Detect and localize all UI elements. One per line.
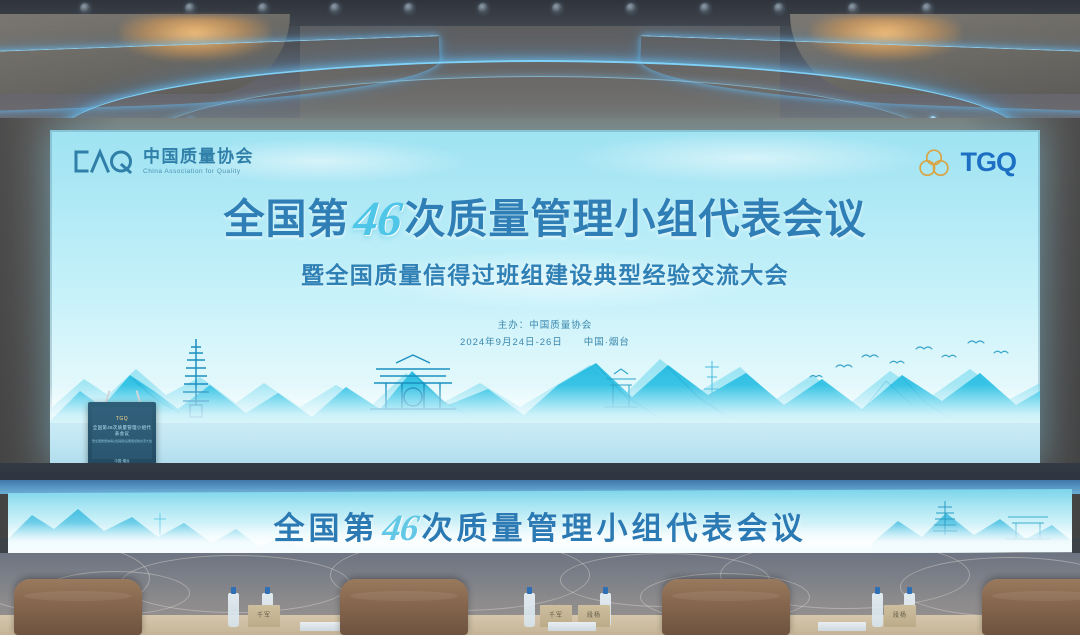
delegate-chair: [982, 579, 1080, 635]
banner-title-suffix: 次质量管理小组代表会议: [422, 511, 807, 546]
ceiling-spotlight-icon: [185, 3, 195, 13]
caq-logo-text-block: 中国质量协会 China Association for Quality: [143, 148, 254, 175]
led-backdrop-screen: 中国质量协会 China Association for Quality TGQ…: [50, 130, 1040, 463]
delegate-chair: [14, 579, 142, 635]
podium-title: 全国第46次质量管理小组代表会议: [92, 425, 152, 437]
name-placard: 千军: [248, 605, 280, 627]
ceiling-spotlight-icon: [922, 3, 932, 13]
cloud-decor: [570, 132, 930, 184]
ceiling-spotlight-icon: [404, 3, 414, 13]
main-title-number: 46: [347, 192, 408, 247]
ceiling-spotlight-icon: [80, 3, 90, 13]
document-sheet: [548, 622, 596, 631]
podium-subtitle: 暨全国质量信得过班组建设典型经验交流大会: [92, 439, 152, 443]
ceiling-spotlight-icon: [330, 3, 340, 13]
podium-front-panel: TGQ 全国第46次质量管理小组代表会议 暨全国质量信得过班组建设典型经验交流大…: [92, 407, 152, 459]
document-sheet: [818, 622, 866, 631]
main-title-suffix: 次质量管理小组代表会议: [405, 196, 867, 242]
tgq-logo: TGQ: [917, 147, 1017, 178]
flying-birds-icon: [810, 341, 1008, 377]
banner-title-prefix: 全国第: [274, 511, 379, 546]
stage-front-banner: 全国第46次质量管理小组代表会议: [8, 489, 1072, 557]
trefoil-rings-icon: [917, 148, 951, 178]
screen-landscape-artwork: [50, 313, 1040, 463]
caq-name-en: China Association for Quality: [143, 168, 254, 175]
ceiling-spotlight-icon: [552, 3, 562, 13]
main-title: 全国第46次质量管理小组代表会议: [50, 190, 1040, 245]
water-bottle: [872, 593, 883, 627]
water-bottle: [524, 593, 535, 627]
ceiling-spotlight-icon: [700, 3, 710, 13]
tgq-logo-text: TGQ: [961, 147, 1017, 178]
banner-title: 全国第46次质量管理小组代表会议: [8, 503, 1072, 549]
podium-logo-text: TGQ: [92, 416, 152, 422]
ceiling-spotlight-icon: [774, 3, 784, 13]
conference-hall-photo: 中国质量协会 China Association for Quality TGQ…: [0, 0, 1080, 635]
ceiling-spotlight-icon: [848, 3, 858, 13]
carpet-foreground: 千军 千军 段杨 段杨: [0, 553, 1080, 635]
ceiling: [0, 0, 1080, 128]
banner-title-number: 46: [375, 507, 424, 550]
delegate-chair: [662, 579, 790, 635]
name-placard: 段杨: [884, 605, 916, 627]
delegate-chair: [340, 579, 468, 635]
ceiling-spotlight-icon: [478, 3, 488, 13]
ceiling-spotlight-icon: [258, 3, 268, 13]
water-bottle: [228, 593, 239, 627]
main-title-prefix: 全国第: [224, 196, 350, 242]
water-layer: [50, 423, 1040, 463]
caq-logo: 中国质量协会 China Association for Quality: [72, 148, 254, 175]
caq-monogram-icon: [72, 148, 134, 175]
sub-title: 暨全国质量信得过班组建设典型经验交流大会: [50, 256, 1040, 290]
caq-name-cn: 中国质量协会: [143, 148, 254, 166]
ceiling-spotlight-icon: [626, 3, 636, 13]
